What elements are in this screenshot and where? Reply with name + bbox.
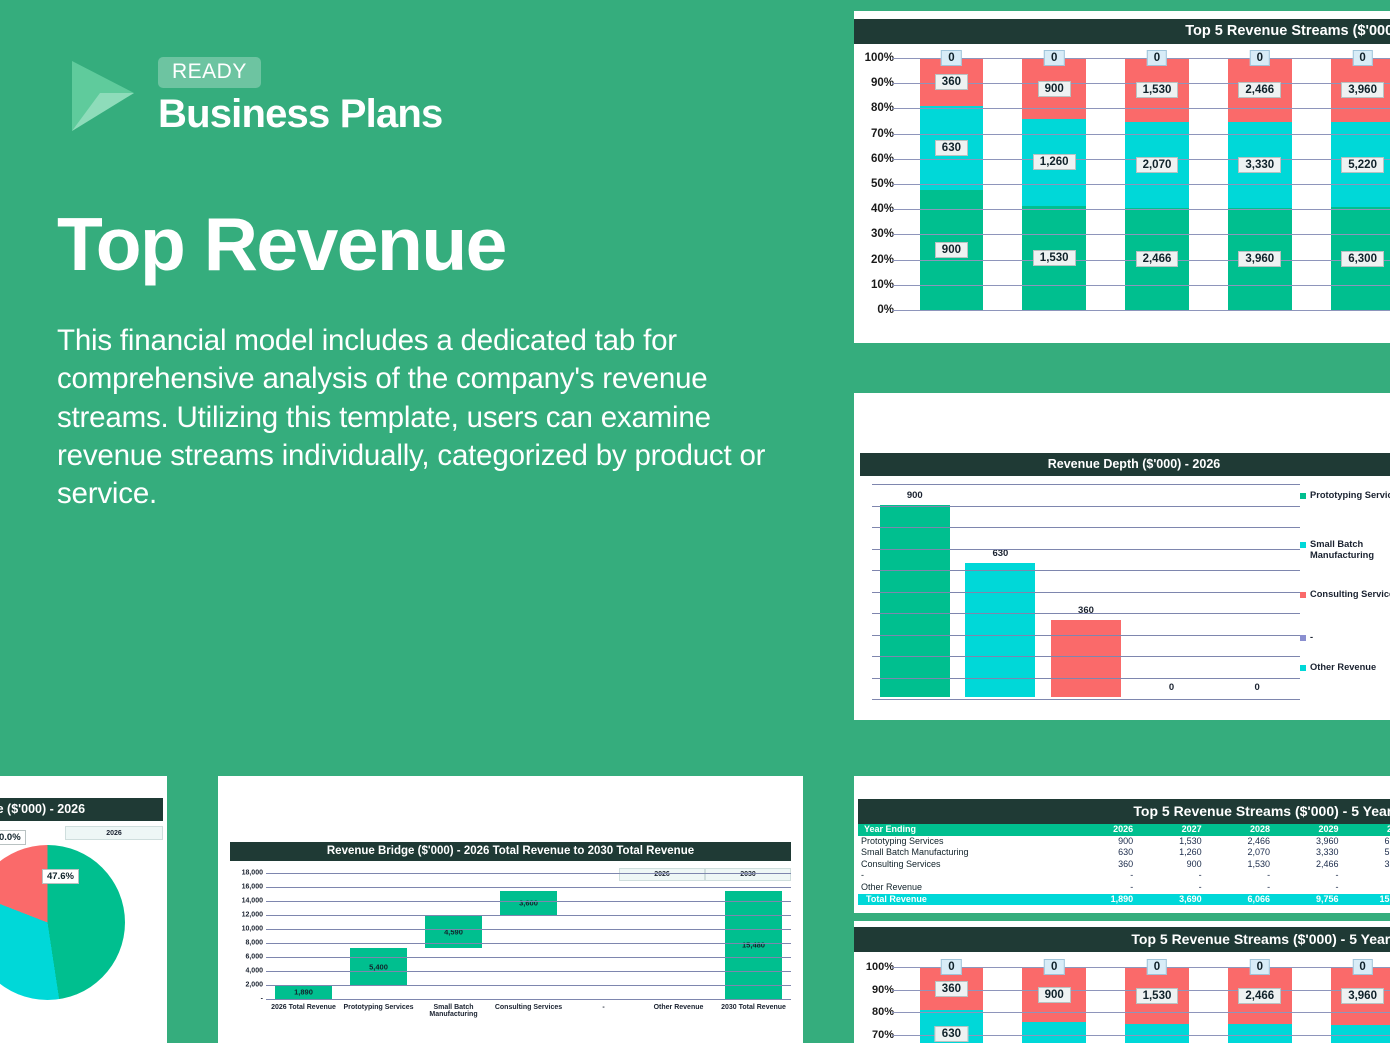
plot-area: 0630360090001,53002,46603,960 [900, 964, 1390, 1043]
chart-title: Run-Rate ($'000) - 2026 [0, 798, 163, 821]
segment-value-label: 0 [1250, 959, 1270, 975]
table-cell: - [1068, 882, 1136, 894]
bar-segment: 2,466 [1228, 967, 1292, 1024]
bar-segment: 630 [920, 1010, 984, 1043]
table-row: Consulting Services3609001,5302,4663,960 [858, 859, 1390, 871]
y-tick: 18,000 [242, 870, 263, 877]
waterfall-chart: -2,0004,0006,0008,00010,00012,00014,0001… [230, 873, 791, 1021]
table-cell: 6,300 [1342, 836, 1390, 848]
bar-slot: 360 [1043, 484, 1129, 697]
y-tick: 40% [871, 203, 894, 215]
segment-value-label: 3,960 [1238, 251, 1281, 267]
gridline [872, 484, 1300, 485]
table-cell-label: Other Revenue [858, 882, 1068, 894]
axis-tick [892, 285, 900, 286]
axis-tick [892, 58, 900, 59]
table-cell: - [1273, 870, 1341, 882]
table-card-top5-5years: Top 5 Revenue Streams ($'000) - 5 Years … [854, 776, 1390, 913]
plot-area: 1,8905,4004,5903,60015,480 [266, 873, 791, 999]
segment-value-label: 630 [935, 140, 968, 156]
x-axis-label: Other Revenue [641, 999, 716, 1021]
gridline [900, 184, 1390, 185]
bar-segment [1228, 1024, 1292, 1043]
legend-label: Prototyping Services [1310, 490, 1390, 501]
bar-group: 90063036000 [872, 484, 1300, 697]
bar-slot: 3,600 [491, 873, 566, 999]
x-axis-label: Small Batch Manufacturing [416, 999, 491, 1021]
gridline [266, 971, 791, 972]
bar-slot: 4,590 [416, 873, 491, 999]
y-tick: 70% [871, 128, 894, 140]
legend-item: Consulting Services [1300, 589, 1390, 600]
segment-value-label: 1,530 [1136, 988, 1179, 1004]
chart-title: Top 5 Revenue Streams ($'000) - 5 Years [854, 927, 1390, 952]
table-row: ------ [858, 870, 1390, 882]
bar-slot: 1,890 [266, 873, 341, 999]
table-header-cell: 2028 [1205, 824, 1273, 836]
bar-slot: 03,960 [1311, 964, 1390, 1043]
table-cell-label: Small Batch Manufacturing [858, 847, 1068, 859]
segment-value-label: 3,960 [1341, 988, 1384, 1004]
bar-value-label: 900 [907, 490, 923, 501]
gridline [900, 967, 1390, 968]
segment-value-label: 2,466 [1238, 82, 1281, 98]
table-cell: - [1342, 882, 1390, 894]
table-body: Prototyping Services9001,5302,4663,9606,… [858, 836, 1390, 906]
segment-value-label: 0 [941, 50, 961, 66]
table-header-cell: 2030 [1342, 824, 1390, 836]
y-tick: 12,000 [242, 912, 263, 919]
table-cell: 15,480 [1342, 894, 1390, 906]
table-total-row: Total Revenue1,8903,6906,0669,75615,480 [858, 894, 1390, 906]
y-tick: 20% [871, 254, 894, 266]
segment-value-label: 1,530 [1033, 250, 1076, 266]
legend-label: - [1310, 632, 1313, 643]
table-cell: 2,466 [1205, 836, 1273, 848]
bar-segment: 900 [1022, 58, 1086, 119]
bar: 3,600 [500, 891, 557, 916]
y-tick: 2,000 [245, 982, 263, 989]
table-cell: 900 [1068, 836, 1136, 848]
table-header-cell: 2029 [1273, 824, 1341, 836]
segment-value-label: 0 [1352, 959, 1372, 975]
y-tick: 4,000 [245, 968, 263, 975]
table-cell: 3,960 [1342, 859, 1390, 871]
segment-value-label: 3,330 [1238, 157, 1281, 173]
table-row: Prototyping Services9001,5302,4663,9606,… [858, 836, 1390, 848]
table-cell-label: Total Revenue [858, 894, 1068, 906]
bar-slot: 0 [1214, 484, 1300, 697]
axis-tick [892, 260, 900, 261]
bar-value-label: 360 [1078, 605, 1094, 616]
segment-value-label: 0 [1147, 959, 1167, 975]
y-tick: 16,000 [242, 884, 263, 891]
legend-label: Consulting Services [1310, 589, 1390, 600]
bar-segment: 3,960 [1331, 58, 1390, 122]
segment-value-label: 2,466 [1136, 251, 1179, 267]
table-cell: - [1205, 870, 1273, 882]
legend-item: Prototyping Services [1300, 490, 1390, 501]
y-axis: -2,0004,0006,0008,00010,00012,00014,0001… [230, 873, 266, 999]
y-tick: 60% [871, 153, 894, 165]
chart-card-revenue-depth: Revenue Depth ($'000) - 2026 90063036000… [854, 393, 1390, 720]
segment-value-label: 6,300 [1341, 251, 1384, 267]
bar: 900 [880, 505, 950, 697]
bar-slot: 15,480 [716, 873, 791, 999]
table-cell: - [1342, 870, 1390, 882]
y-axis: 70%80%90%100% [854, 964, 900, 1043]
bar-group: 0630360090001,53002,46603,960 [900, 964, 1390, 1043]
gridline [872, 699, 1300, 700]
bar-slot: 0630360 [900, 964, 1003, 1043]
table-cell: 9,756 [1273, 894, 1341, 906]
table-cell: 900 [1136, 859, 1204, 871]
chart-card-run-rate-pie: Run-Rate ($'000) - 2026 2026 47.6% 33.3%… [0, 776, 167, 1043]
brand-text: READY Business Plans [158, 57, 442, 135]
table-cell: 1,260 [1136, 847, 1204, 859]
segment-value-label: 900 [1038, 81, 1071, 97]
pie-slice-label: 0.0% [0, 830, 26, 845]
table-cell: 5,220 [1342, 847, 1390, 859]
segment-value-label: 3,960 [1341, 82, 1384, 98]
gridline [266, 873, 791, 874]
page-description: This financial model includes a dedicate… [57, 322, 767, 514]
y-tick: 70% [872, 1029, 894, 1041]
gridline [266, 929, 791, 930]
axis-tick [892, 184, 900, 185]
stacked-bar: 03,960 [1331, 964, 1390, 1043]
y-tick: - [261, 996, 263, 1003]
y-tick: 90% [871, 77, 894, 89]
y-tick: 30% [871, 228, 894, 240]
chart-legend: Prototyping ServicesSmall Batch Manufact… [1300, 484, 1390, 699]
segment-value-label: 900 [935, 242, 968, 258]
plot-area: 90063036000 [872, 484, 1300, 699]
axis-tick [892, 209, 900, 210]
segment-value-label: 2,070 [1136, 157, 1179, 173]
table-header-cell: Year Ending [858, 824, 1068, 836]
y-tick: 10% [871, 279, 894, 291]
bar-segment: 900 [1022, 967, 1086, 1022]
gridline [900, 108, 1390, 109]
table-header-cell: 2027 [1136, 824, 1204, 836]
axis-tick [892, 967, 900, 968]
table-cell-label: - [858, 870, 1068, 882]
x-axis-label: 2030 Total Revenue [716, 999, 791, 1021]
segment-value-label: 900 [1038, 987, 1071, 1003]
stacked-100-chart: 70%80%90%100% 0630360090001,53002,46603,… [854, 956, 1390, 1043]
gridline [900, 58, 1390, 59]
gridline [266, 985, 791, 986]
chart-card-top5-stacked-bottom: Top 5 Revenue Streams ($'000) - 5 Years … [854, 921, 1390, 1043]
segment-value-label: 0 [1147, 50, 1167, 66]
stacked-bar: 02,466 [1228, 964, 1292, 1043]
gridline [266, 901, 791, 902]
table-cell: 630 [1068, 847, 1136, 859]
table-cell: 360 [1068, 859, 1136, 871]
table-cell: - [1136, 882, 1204, 894]
gridline [266, 887, 791, 888]
bar-group: 1,8905,4004,5903,60015,480 [266, 873, 791, 999]
bar-segment: 900 [920, 190, 984, 310]
bar-value-label: 0 [1169, 682, 1174, 693]
legend-swatch [1300, 542, 1306, 548]
pie-slice-label: 47.6% [42, 869, 79, 884]
table-cell: 1,890 [1068, 894, 1136, 906]
axis-tick [892, 990, 900, 991]
gridline [872, 656, 1300, 657]
bar-segment: 2,466 [1228, 58, 1292, 122]
bar: 360 [1051, 620, 1121, 697]
bar-slot: 02,466 [1208, 964, 1311, 1043]
bar-slot: 630 [958, 484, 1044, 697]
segment-value-label: 360 [935, 74, 968, 90]
play-triangle-icon [62, 55, 144, 137]
bar: 5,400 [350, 948, 407, 986]
y-tick: 100% [866, 961, 894, 973]
x-axis-label: Consulting Services [491, 999, 566, 1021]
bar-slot: 0 [1129, 484, 1215, 697]
segment-value-label: 360 [935, 981, 968, 997]
axis-tick [892, 234, 900, 235]
bar-segment [1125, 1024, 1189, 1043]
axis-tick [892, 310, 900, 311]
table-cell: - [1273, 882, 1341, 894]
gridline [900, 134, 1390, 135]
table-cell: 2,070 [1205, 847, 1273, 859]
segment-value-label: 630 [935, 1026, 968, 1042]
bar-slot: 0900 [1003, 964, 1106, 1043]
table-cell-label: Prototyping Services [858, 836, 1068, 848]
gridline [872, 527, 1300, 528]
axis-tick [892, 108, 900, 109]
axis-tick [892, 1035, 900, 1036]
x-axis-label: - [566, 999, 641, 1021]
bar-segment: 1,530 [1125, 967, 1189, 1024]
bar-value-label: 0 [1255, 682, 1260, 693]
gridline [872, 678, 1300, 679]
segment-value-label: 1,530 [1136, 82, 1179, 98]
axis-tick [892, 134, 900, 135]
x-axis-labels: 2026 Total RevenuePrototyping ServicesSm… [266, 999, 791, 1021]
gridline [872, 570, 1300, 571]
segment-value-label: 0 [941, 959, 961, 975]
gridline [266, 957, 791, 958]
legend-item: Small Batch Manufacturing [1300, 539, 1390, 562]
revenue-table: Year Ending20262027202820292030 Prototyp… [858, 824, 1390, 905]
table-row: Small Batch Manufacturing6301,2602,0703,… [858, 847, 1390, 859]
chart-title: Revenue Depth ($'000) - 2026 [860, 453, 1390, 476]
gridline [872, 592, 1300, 593]
gridline [900, 310, 1390, 311]
bar: 15,480 [725, 891, 782, 999]
legend-swatch [1300, 635, 1306, 641]
bar-slot [641, 873, 716, 999]
gridline [266, 943, 791, 944]
bar-segment: 630 [920, 106, 984, 190]
brand-name: Business Plans [158, 93, 442, 135]
bar-segment: 5,220 [1331, 122, 1390, 207]
y-tick: 80% [871, 102, 894, 114]
plot-area: 036063090009001,2601,53001,5302,0702,466… [900, 58, 1390, 310]
pie-chart: 47.6% 33.3% 19.0% 0.0% 0.0% [0, 833, 167, 1018]
segment-value-label: 1,260 [1033, 154, 1076, 170]
bar-slot: 5,400 [341, 873, 416, 999]
segment-value-label: 0 [1250, 50, 1270, 66]
segment-value-label: 0 [1044, 959, 1064, 975]
axis-tick [892, 159, 900, 160]
ready-badge: READY [158, 57, 261, 88]
segment-value-label: 0 [1044, 50, 1064, 66]
axis-tick [892, 83, 900, 84]
gridline [872, 613, 1300, 614]
legend-label: Small Batch Manufacturing [1310, 539, 1390, 562]
x-axis-label: 2026 Total Revenue [266, 999, 341, 1021]
chart-card-revenue-bridge: Revenue Bridge ($'000) - 2026 Total Reve… [218, 776, 803, 1043]
legend-swatch [1300, 592, 1306, 598]
bar-segment: 3,960 [1331, 967, 1390, 1024]
segment-value-label: 5,220 [1341, 157, 1384, 173]
stacked-bar: 0630360 [920, 964, 984, 1043]
table-cell: - [1136, 870, 1204, 882]
table-cell: 1,530 [1136, 836, 1204, 848]
x-axis-label: Prototyping Services [341, 999, 416, 1021]
bar-segment: 1,530 [1125, 58, 1189, 122]
table-cell: 2,466 [1273, 859, 1341, 871]
table-cell: 1,530 [1205, 859, 1273, 871]
table-cell: - [1068, 870, 1136, 882]
bar-segment: 1,530 [1022, 206, 1086, 310]
gridline [900, 285, 1390, 286]
y-tick: 14,000 [242, 898, 263, 905]
segment-value-label: 0 [1352, 50, 1372, 66]
legend-label: Other Revenue [1310, 662, 1376, 673]
table-cell: 3,960 [1273, 836, 1341, 848]
bar-slot [566, 873, 641, 999]
table-header-row: Year Ending20262027202820292030 [858, 824, 1390, 836]
gridline [872, 635, 1300, 636]
brand-logo: READY Business Plans [62, 55, 442, 137]
gridline [872, 506, 1300, 507]
bar-value-label: 15,480 [725, 940, 782, 949]
segment-value-label: 2,466 [1238, 988, 1281, 1004]
table-title: Top 5 Revenue Streams ($'000) - 5 Years [858, 799, 1390, 824]
chart-card-top5-stacked: Top 5 Revenue Streams ($'000) 0%10%20%30… [854, 11, 1390, 343]
table-cell: 3,330 [1273, 847, 1341, 859]
table-cell: 6,066 [1205, 894, 1273, 906]
chart-title: Revenue Bridge ($'000) - 2026 Total Reve… [230, 842, 791, 861]
gridline [900, 1012, 1390, 1013]
chart-title: Top 5 Revenue Streams ($'000) [854, 19, 1390, 44]
table-cell-label: Consulting Services [858, 859, 1068, 871]
page-title: Top Revenue [57, 205, 506, 284]
table-cell: - [1205, 882, 1273, 894]
legend-swatch [1300, 493, 1306, 499]
gridline [266, 915, 791, 916]
bar-slot: 900 [872, 484, 958, 697]
bar-slot: 01,530 [1106, 964, 1209, 1043]
stacked-bar: 0900 [1022, 964, 1086, 1043]
gridline [900, 234, 1390, 235]
bar-segment: 1,260 [1022, 119, 1086, 205]
bar: 1,890 [275, 986, 332, 999]
table-header-cell: 2026 [1068, 824, 1136, 836]
legend-swatch [1300, 665, 1306, 671]
y-tick: 80% [872, 1006, 894, 1018]
y-tick: 8,000 [245, 940, 263, 947]
legend-item: Other Revenue [1300, 662, 1376, 673]
stacked-bar: 01,530 [1125, 964, 1189, 1043]
axis-tick [892, 1012, 900, 1013]
gridline [900, 209, 1390, 210]
legend-item: - [1300, 632, 1313, 643]
table-cell: 3,690 [1136, 894, 1204, 906]
y-tick: 6,000 [245, 954, 263, 961]
y-tick: 100% [865, 52, 894, 64]
y-tick: 90% [872, 984, 894, 996]
y-tick: 10,000 [242, 926, 263, 933]
revenue-depth-chart: 90063036000 Prototyping ServicesSmall Ba… [860, 484, 1390, 699]
bar-segment [1022, 1022, 1086, 1043]
gridline [872, 549, 1300, 550]
y-tick: 50% [871, 178, 894, 190]
bar-value-label: 1,890 [275, 988, 332, 997]
gridline [900, 1035, 1390, 1036]
stacked-100-chart: 0%10%20%30%40%50%60%70%80%90%100% 036063… [854, 50, 1390, 328]
table-row: Other Revenue----- [858, 882, 1390, 894]
